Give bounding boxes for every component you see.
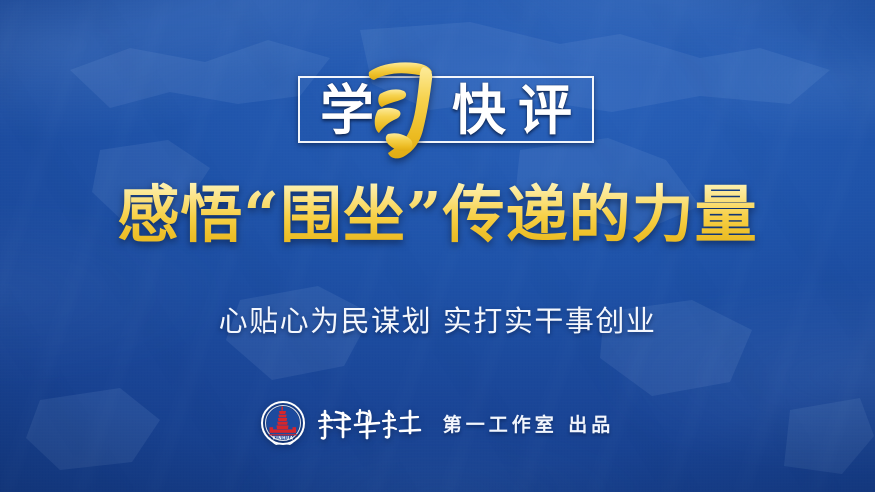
program-title-badge: 学 习 快 评 bbox=[298, 76, 594, 143]
headline-text: 感悟“围坐”传递的力量 bbox=[0, 182, 875, 249]
svg-text:XINHUA: XINHUA bbox=[272, 436, 293, 441]
studio-credit-text: 第一工作室 出品 bbox=[443, 410, 615, 437]
xinhua-pagoda-logo-icon: XINHUA bbox=[261, 401, 305, 445]
poster-canvas: 学 习 快 评 bbox=[0, 0, 875, 492]
footer-credit: XINHUA bbox=[0, 398, 875, 448]
subtitle-text: 心贴心为民谋划 实打实干事创业 bbox=[0, 298, 875, 340]
badge-char-xi-gold bbox=[358, 58, 440, 162]
badge-char-kuai: 快 bbox=[446, 83, 512, 137]
badge-character-row: 学 习 快 评 bbox=[298, 76, 594, 143]
badge-char-ping: 评 bbox=[512, 83, 578, 137]
xinhua-wordmark bbox=[316, 403, 426, 443]
